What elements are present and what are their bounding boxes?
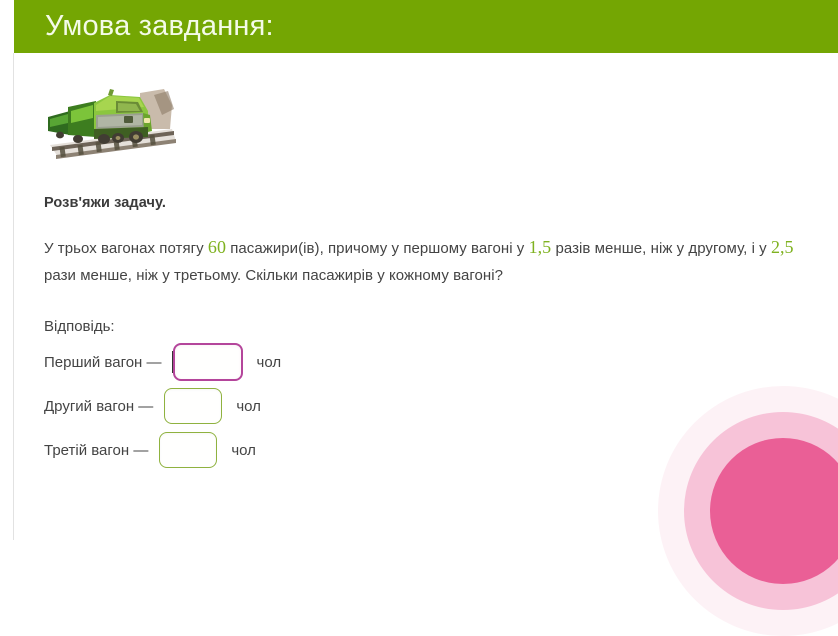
unit-label-first-carriage: чол — [257, 354, 282, 371]
answer-label-second-carriage: Другий вагон — — [44, 398, 153, 415]
second-carriage-input[interactable] — [164, 388, 222, 424]
page-title: Умова завдання: — [14, 12, 274, 41]
train-locomotive-image — [44, 85, 176, 161]
task-number-total: 60 — [208, 237, 226, 257]
task-statement-part-3: разів менше, ніж у другому, і у — [551, 240, 771, 257]
task-instruction-heading: Розв'яжи задачу. — [44, 195, 808, 211]
task-statement-part-1: У трьох вагонах потягу — [44, 240, 208, 257]
task-statement: У трьох вагонах потягу 60 пасажири(ів), … — [44, 235, 808, 289]
answer-row-third-carriage: Третій вагон — чол — [44, 433, 808, 467]
first-carriage-input[interactable] — [173, 343, 243, 381]
third-carriage-input[interactable] — [159, 432, 217, 468]
answer-label-first-carriage: Перший вагон — — [44, 354, 162, 371]
unit-label-second-carriage: чол — [236, 398, 261, 415]
task-statement-part-2: пасажири(ів), причому у першому вагоні у — [226, 240, 529, 257]
answer-label-third-carriage: Третій вагон — — [44, 442, 148, 459]
answer-row-first-carriage: Перший вагон — чол — [44, 345, 808, 379]
task-header-bar: Умова завдання: — [14, 0, 838, 53]
answer-section-label: Відповідь: — [44, 318, 808, 335]
content-left-divider — [13, 53, 14, 540]
first-carriage-input-wrapper — [162, 343, 243, 381]
answer-row-second-carriage: Другий вагон — чол — [44, 389, 808, 423]
task-number-ratio-1: 1,5 — [529, 237, 552, 257]
task-content: Розв'яжи задачу. У трьох вагонах потягу … — [14, 53, 838, 467]
exercise-page: Умова завдання: — [0, 0, 838, 540]
train-locomotive-icon — [44, 85, 176, 161]
task-number-ratio-2: 2,5 — [771, 237, 794, 257]
task-statement-part-4: рази менше, ніж у третьому. Скільки паса… — [44, 267, 503, 284]
unit-label-third-carriage: чол — [231, 442, 256, 459]
